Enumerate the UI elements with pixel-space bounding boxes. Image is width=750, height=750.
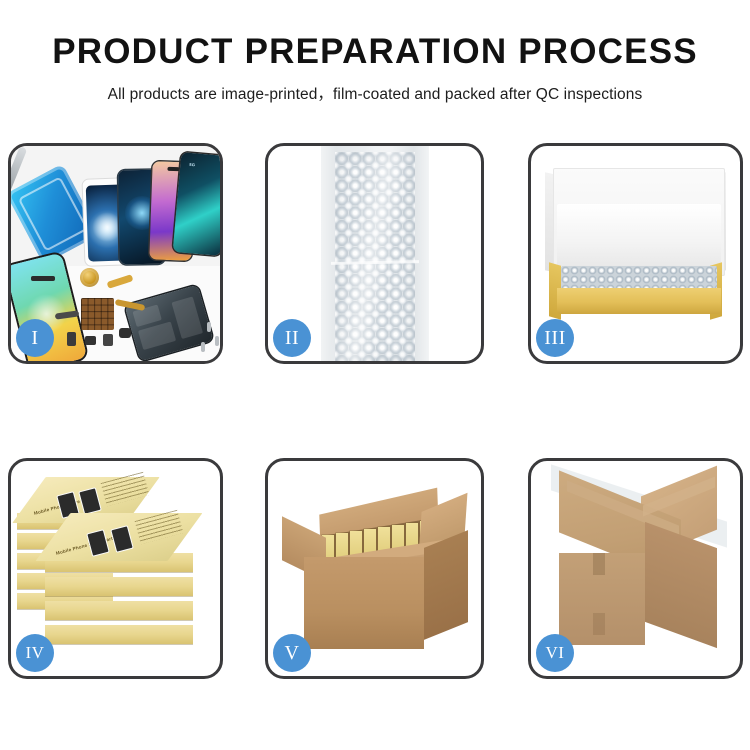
camera-module-part-2 — [85, 336, 96, 345]
camera-module-part-1 — [67, 332, 76, 346]
step-badge-4: IV — [16, 634, 54, 672]
speaker-bar-part — [31, 276, 55, 281]
carton-seam-lower — [593, 613, 605, 635]
step-3-image: III — [531, 146, 740, 361]
process-steps-grid: 5G — [0, 143, 750, 679]
process-step-4[interactable]: Mobile Phone Spare Parts Mobile Phone Sp… — [8, 458, 223, 679]
step-badge-2: II — [273, 319, 311, 357]
carton-seam-upper — [593, 553, 605, 575]
process-row-2: Mobile Phone Spare Parts Mobile Phone Sp… — [0, 458, 750, 679]
page-title: PRODUCT PREPARATION PROCESS — [0, 34, 750, 71]
camera-module-part-3 — [103, 334, 113, 346]
screw-part-2 — [215, 336, 219, 346]
screw-part-1 — [207, 322, 211, 332]
process-step-3[interactable]: III — [528, 143, 743, 364]
copper-coil-part — [80, 268, 99, 287]
step-badge-6: VI — [536, 634, 574, 672]
process-step-2[interactable]: II — [265, 143, 484, 364]
phone-teal-wave: 5G — [173, 152, 220, 256]
page-header: PRODUCT PREPARATION PROCESS All products… — [0, 0, 750, 104]
kraft-box-front-4 — [45, 625, 193, 644]
process-step-1[interactable]: 5G — [8, 143, 223, 364]
process-step-6[interactable]: VI — [528, 458, 743, 679]
step-4-image: Mobile Phone Spare Parts Mobile Phone Sp… — [11, 461, 220, 676]
carton-front-face — [304, 557, 424, 649]
step-6-image: VI — [531, 461, 740, 676]
bubble-wrap-sheen — [321, 146, 429, 361]
step-1-image: 5G — [11, 146, 220, 361]
page-subtitle: All products are image-printed，film-coat… — [0, 82, 750, 104]
bubble-wrap-pouch — [321, 146, 429, 361]
product-preparation-page: PRODUCT PREPARATION PROCESS All products… — [0, 0, 750, 750]
white-foam-sheet — [557, 204, 721, 266]
chip-grid-part — [81, 298, 114, 330]
step-badge-5: V — [273, 634, 311, 672]
step-badge-3: III — [536, 319, 574, 357]
step-5-image: V — [268, 461, 481, 676]
process-step-5[interactable]: V — [265, 458, 484, 679]
screw-part-3 — [201, 342, 205, 352]
carton-right-side — [424, 530, 468, 640]
box-front-panel — [557, 288, 721, 314]
camera-module-part-4 — [119, 328, 131, 338]
step-2-image: II — [268, 146, 481, 361]
process-row-1: 5G — [0, 143, 750, 364]
kraft-box-front-2 — [45, 577, 193, 596]
step-badge-1: I — [16, 319, 54, 357]
kraft-box-front-3 — [45, 601, 193, 620]
